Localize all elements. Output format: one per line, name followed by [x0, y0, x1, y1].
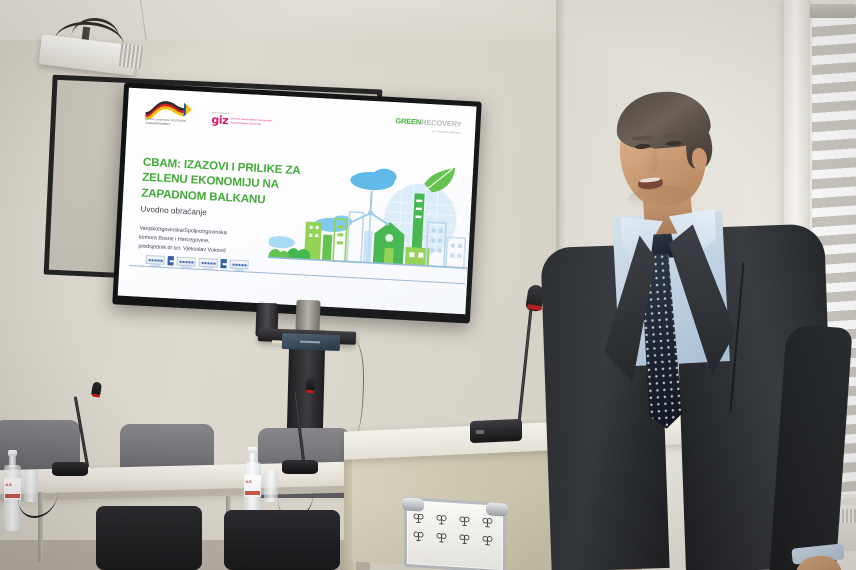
recycling-leaf-icon	[458, 532, 471, 546]
sign-frame-corner-right	[486, 502, 508, 516]
giz-logo: Implemented by giz Deutsche Gesellschaft…	[211, 106, 275, 127]
speaker-person	[540, 86, 830, 570]
recycling-leaf-icon	[435, 513, 448, 527]
german-cooperation-logo-icon: german cooperation DEUTSCHE ZUSAMMENARBE…	[143, 99, 200, 128]
partner-logo	[167, 256, 173, 265]
recycling-leaf-icon	[481, 516, 494, 530]
green-recovery-logo: GREENRECOVERY for Western Balkans	[395, 116, 462, 134]
podium-sign-icon-grid	[412, 511, 500, 548]
brand-green-word: GREEN	[395, 116, 421, 126]
recycling-leaf-icon	[481, 534, 494, 548]
sign-frame-corner-left	[402, 497, 424, 511]
giz-wordmark: giz	[211, 115, 228, 125]
partner-logo	[145, 255, 164, 265]
presentation-slide: german cooperation DEUTSCHE ZUSAMMENARBE…	[118, 88, 477, 315]
partner-logo	[229, 259, 248, 269]
recycling-leaf-icon	[412, 529, 425, 543]
av-cable	[344, 338, 364, 433]
recycling-leaf-icon	[435, 531, 448, 545]
presentation-display[interactable]: german cooperation DEUTSCHE ZUSAMMENARBE…	[112, 82, 481, 323]
german-cooperation-label: german cooperation DEUTSCHE ZUSAMMENARBE…	[145, 118, 199, 128]
tv-screen: german cooperation DEUTSCHE ZUSAMMENARBE…	[118, 88, 477, 315]
recycling-leaf-icon	[458, 514, 471, 528]
projector-lens	[119, 43, 144, 70]
chair-front-1[interactable]	[96, 506, 202, 570]
bottle-brand-text: ILS	[246, 479, 252, 484]
recycling-leaf-icon	[412, 511, 425, 525]
partner-logo	[176, 257, 195, 267]
slide-top-logos: german cooperation DEUTSCHE ZUSAMMENARBE…	[143, 99, 276, 132]
chair-front-2[interactable]	[224, 510, 340, 570]
conference-room-scene: german cooperation DEUTSCHE ZUSAMMENARBE…	[0, 0, 856, 570]
ear	[692, 148, 707, 170]
green-city-illustration-icon	[267, 146, 474, 287]
drinking-glass-2[interactable]	[264, 470, 278, 502]
bottle-label: ILS	[244, 475, 261, 497]
slide-subtitle: Uvodno obraćanje	[140, 205, 207, 218]
slide-body-text: Vanjskotrgovinska/Spoljnotrgovinska komo…	[138, 225, 227, 256]
bottle-brand-text: ILS	[6, 482, 12, 487]
giz-subtitle: Deutsche Gesellschaft für Internationale…	[230, 119, 274, 128]
speaker-center	[295, 300, 320, 333]
partner-logo	[198, 258, 217, 268]
podium-mic-led	[476, 430, 484, 434]
brand-gray-word: RECOVERY	[421, 118, 462, 129]
blind-rail[interactable]	[806, 4, 856, 18]
partner-logo	[220, 259, 226, 268]
